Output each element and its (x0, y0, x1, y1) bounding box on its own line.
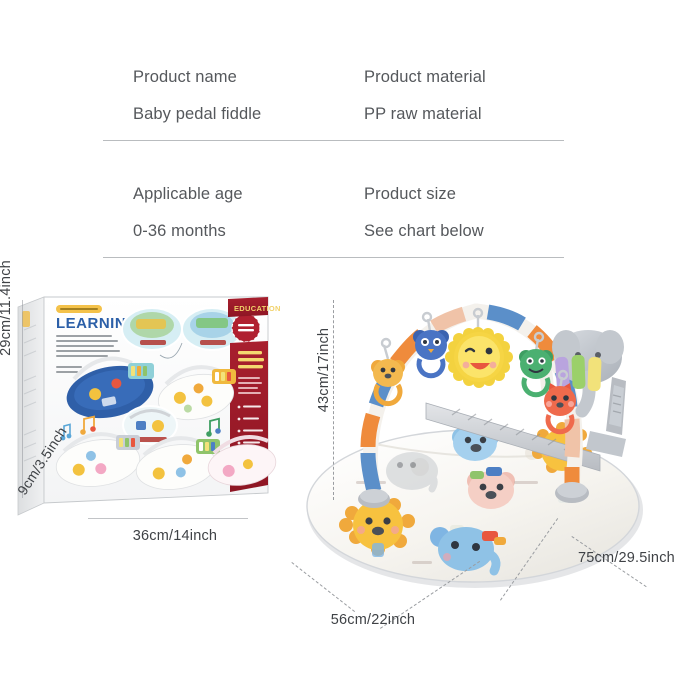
box-panel-title (238, 351, 264, 368)
spec-value: Baby pedal fiddle (133, 86, 334, 123)
box-education-banner: EDUCATION (228, 297, 281, 317)
product-spec-page: Product name Baby pedal fiddle Product m… (0, 0, 679, 679)
play-gym-illustration (300, 285, 679, 625)
specification-table: Product name Baby pedal fiddle Product m… (103, 55, 565, 258)
package-box-illustration: LEARNING (0, 285, 320, 565)
table-row: Applicable age 0-36 months Product size … (103, 172, 565, 239)
spec-label: Product size (364, 172, 565, 203)
spec-value: PP raw material (364, 86, 565, 123)
box-feature-bubble-1 (122, 308, 182, 350)
gym-length-label: 75cm/29.5inch (578, 550, 675, 566)
mat-character-bear (467, 467, 515, 509)
spec-cell-product-size: Product size See chart below (334, 172, 565, 239)
spec-cell-applicable-age: Applicable age 0-36 months (103, 172, 334, 239)
spec-label: Product name (133, 55, 334, 86)
gym-height-guide (333, 300, 334, 500)
table-divider (103, 257, 564, 258)
spec-cell-product-name: Product name Baby pedal fiddle (103, 55, 334, 122)
gym-height-label: 43cm/17inch (316, 310, 332, 430)
spec-value: 0-36 months (133, 203, 334, 240)
box-height-label: 29cm/11.4inch (0, 248, 14, 368)
mat-character-elephant-grey (386, 452, 438, 490)
box-height-guide (22, 300, 23, 498)
spec-label: Applicable age (133, 172, 334, 203)
box-width-label: 36cm/14inch (105, 528, 245, 544)
gym-width-label: 56cm/22inch (308, 612, 438, 628)
spec-cell-product-material: Product material PP raw material (334, 55, 565, 122)
table-row: Product name Baby pedal fiddle Product m… (103, 55, 565, 122)
box-sound-badge (232, 314, 260, 342)
box-brand-tag (56, 305, 102, 313)
svg-text:EDUCATION: EDUCATION (234, 304, 281, 313)
box-width-guide (88, 518, 248, 519)
spec-value: See chart below (364, 203, 565, 240)
spec-label: Product material (364, 55, 565, 86)
